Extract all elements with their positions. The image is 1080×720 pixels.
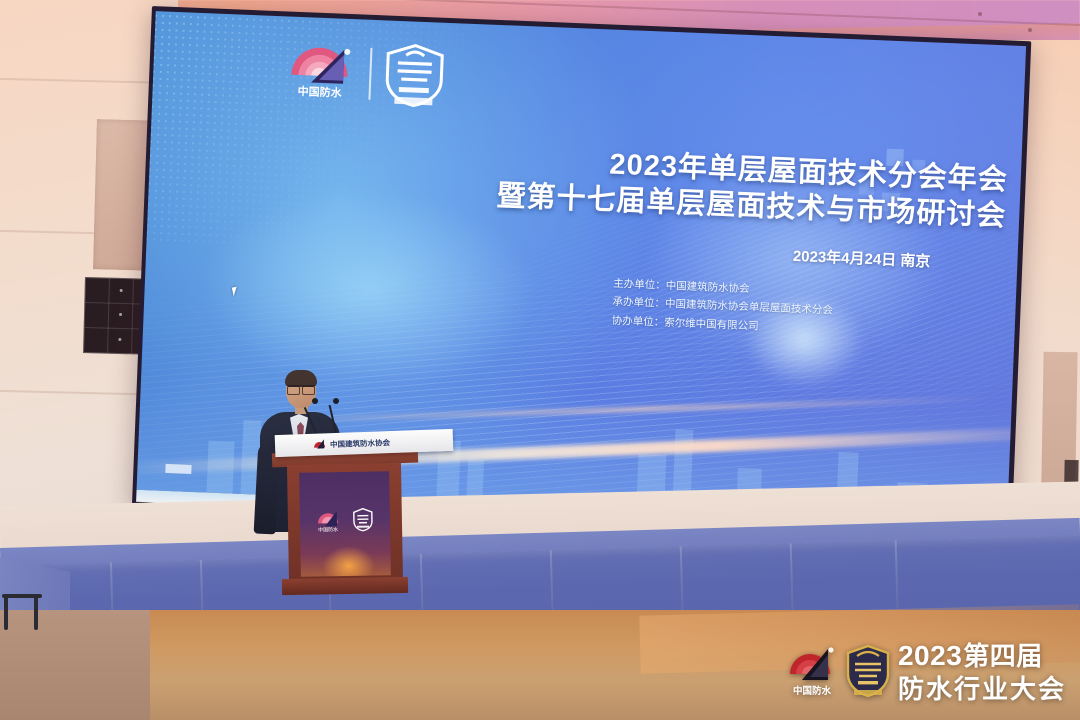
podium-front-panel: 中国防水 [299,471,391,577]
watermark-edition: 第四届 [963,643,1043,669]
logo-divider [368,48,372,100]
event-watermark: 中国防水 2023第四届 防水行业大会 [786,642,1066,702]
cnwa-logo-icon: 中国防水 [282,40,358,103]
conference-shield-icon [845,644,891,700]
watermark-line-1: 2023第四届 [898,642,1066,670]
conference-stage-photo: 中国防水 2023年单层屋面技术分会年会 暨第十七届单层 [0,0,1080,720]
watermark-text: 2023第四届 防水行业大会 [898,642,1066,702]
chair-back [2,594,44,634]
screen-logo-group: 中国防水 [282,38,446,108]
cnwa-logo-icon: 中国防水 [316,508,340,532]
svg-text:中国防水: 中国防水 [793,685,832,697]
watermark-year: 2023 [898,642,962,670]
ceiling-light-fixture [978,12,982,16]
podium-panel-glow [322,545,375,576]
podium: 中国建筑防水协会 中国防水 [272,432,418,596]
watermark-line-2: 防水行业大会 [898,676,1066,702]
organizer-list: 主办单位：中国建筑防水协会 承办单位：中国建筑防水协会单层屋面技术分会 协办单位… [462,269,1004,345]
screen-title-block: 2023年单层屋面技术分会年会 暨第十七届单层屋面技术与市场研讨会 2023年4… [462,142,1009,345]
single-ply-shield-logo-icon [352,507,374,531]
svg-text:中国防水: 中国防水 [318,526,338,532]
screen-corner-mark [165,464,191,474]
event-date-location: 2023年4月24日 南京 [464,232,1004,275]
glasses-icon [287,385,315,393]
podium-plate-text: 中国建筑防水协会 [330,437,390,450]
single-ply-shield-logo-icon [382,42,447,108]
cnwa-logo-icon [313,438,326,451]
podium-body: 中国防水 [287,463,403,585]
ceiling-light-fixture [1028,28,1032,32]
svg-text:中国防水: 中国防水 [297,84,343,100]
podium-base [282,577,408,595]
mouse-cursor-icon [232,286,243,297]
cnwa-logo-icon: 中国防水 [786,644,838,700]
